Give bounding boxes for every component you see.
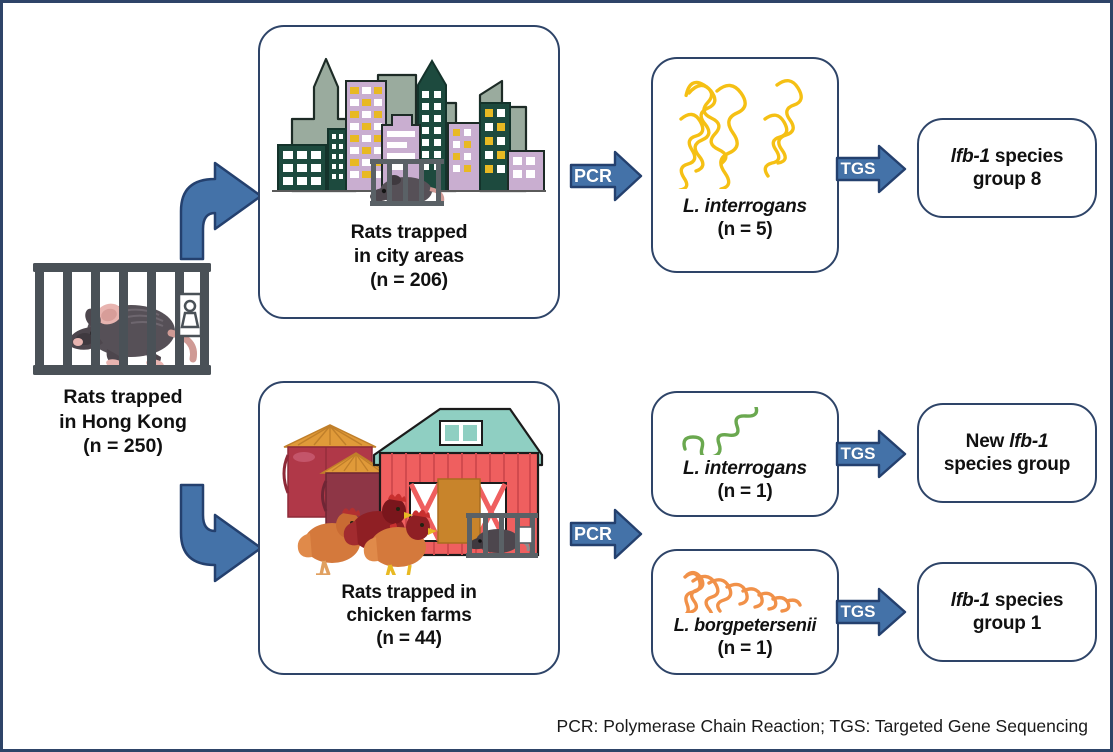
chicken-farm-icon xyxy=(270,395,548,575)
node-result-group-8: lfb-1 species group 8 xyxy=(917,118,1097,218)
root-line-3: (n = 250) xyxy=(9,434,237,459)
city-line-2: in city areas xyxy=(351,245,468,269)
tgs-arrow-city: TGS xyxy=(835,143,907,195)
farm-line-2: chicken farms xyxy=(341,604,476,627)
city-line-3: (n = 206) xyxy=(351,269,468,293)
node-rats-farm: Rats trapped in chicken farms (n = 44) xyxy=(258,381,560,675)
node-farm-caption: Rats trapped in chicken farms (n = 44) xyxy=(341,581,476,651)
spirochete-orange-icon xyxy=(675,565,815,613)
node-result-group-1: lfb-1 species group 1 xyxy=(917,562,1097,662)
pcr-arrow-city: PCR xyxy=(569,149,643,203)
node-farm-interrogans: L. interrogans (n = 1) xyxy=(651,391,839,517)
city-interrogans-caption: L. interrogans (n = 5) xyxy=(683,195,807,241)
rat-in-cage-icon xyxy=(31,261,213,379)
result-new-group-caption: New lfb-1 species group xyxy=(944,430,1070,476)
result-new-group-gene: lfb-1 xyxy=(1009,431,1048,452)
farm-borgpetersenii-count: (n = 1) xyxy=(674,637,817,660)
result-group-8-caption: lfb-1 species group 8 xyxy=(951,145,1064,191)
tgs-arrow-new-group-label: TGS xyxy=(835,428,881,480)
result-group-1-gene: lfb-1 xyxy=(951,590,990,611)
farm-line-1: Rats trapped in xyxy=(341,581,476,604)
root-label: Rats trapped in Hong Kong (n = 250) xyxy=(9,385,237,459)
pcr-arrow-city-label: PCR xyxy=(569,149,617,203)
result-new-group-line-2: species group xyxy=(944,453,1070,476)
result-group-8-line-1: lfb-1 species xyxy=(951,145,1064,168)
node-result-new-group: New lfb-1 species group xyxy=(917,403,1097,503)
result-group-1-caption: lfb-1 species group 1 xyxy=(951,589,1064,635)
curved-arrow-to-farm xyxy=(173,481,269,589)
farm-interrogans-species: L. interrogans xyxy=(683,457,807,480)
tgs-arrow-city-label: TGS xyxy=(835,143,881,195)
result-group-1-line-1: lfb-1 species xyxy=(951,589,1064,612)
node-farm-borgpetersenii: L. borgpetersenii (n = 1) xyxy=(651,549,839,675)
tgs-arrow-group-1: TGS xyxy=(835,586,907,638)
result-group-1-line-2: group 1 xyxy=(951,612,1064,635)
city-skyline-icon xyxy=(270,41,548,211)
city-interrogans-species: L. interrogans xyxy=(683,195,807,218)
result-new-group-line-1: New lfb-1 xyxy=(944,430,1070,453)
curved-arrow-to-city xyxy=(173,155,269,263)
result-group-8-line-2: group 8 xyxy=(951,168,1064,191)
root-line-1: Rats trapped xyxy=(9,385,237,410)
footer-legend: PCR: Polymerase Chain Reaction; TGS: Tar… xyxy=(3,716,1110,737)
result-group-1-suffix: species xyxy=(990,590,1063,611)
farm-borgpetersenii-species: L. borgpetersenii xyxy=(674,615,817,637)
farm-borgpetersenii-caption: L. borgpetersenii (n = 1) xyxy=(674,615,817,660)
node-rats-city: Rats trapped in city areas (n = 206) xyxy=(258,25,560,319)
city-interrogans-count: (n = 5) xyxy=(683,218,807,241)
result-group-8-gene: lfb-1 xyxy=(951,146,990,167)
tgs-arrow-group-1-label: TGS xyxy=(835,586,881,638)
spirochete-yellow-icon xyxy=(661,71,829,189)
tgs-arrow-new-group: TGS xyxy=(835,428,907,480)
result-group-8-suffix: species xyxy=(990,146,1063,167)
spirochete-green-icon xyxy=(675,407,815,455)
pcr-arrow-farm: PCR xyxy=(569,507,643,561)
pcr-arrow-farm-label: PCR xyxy=(569,507,617,561)
farm-line-3: (n = 44) xyxy=(341,627,476,650)
result-new-group-prefix: New xyxy=(966,431,1010,452)
node-city-caption: Rats trapped in city areas (n = 206) xyxy=(351,221,468,292)
figure-canvas: Rats trapped in Hong Kong (n = 250) xyxy=(0,0,1113,752)
root-line-2: in Hong Kong xyxy=(9,410,237,435)
node-city-interrogans: L. interrogans (n = 5) xyxy=(651,57,839,273)
farm-interrogans-caption: L. interrogans (n = 1) xyxy=(683,457,807,503)
farm-interrogans-count: (n = 1) xyxy=(683,480,807,503)
city-line-1: Rats trapped xyxy=(351,221,468,245)
